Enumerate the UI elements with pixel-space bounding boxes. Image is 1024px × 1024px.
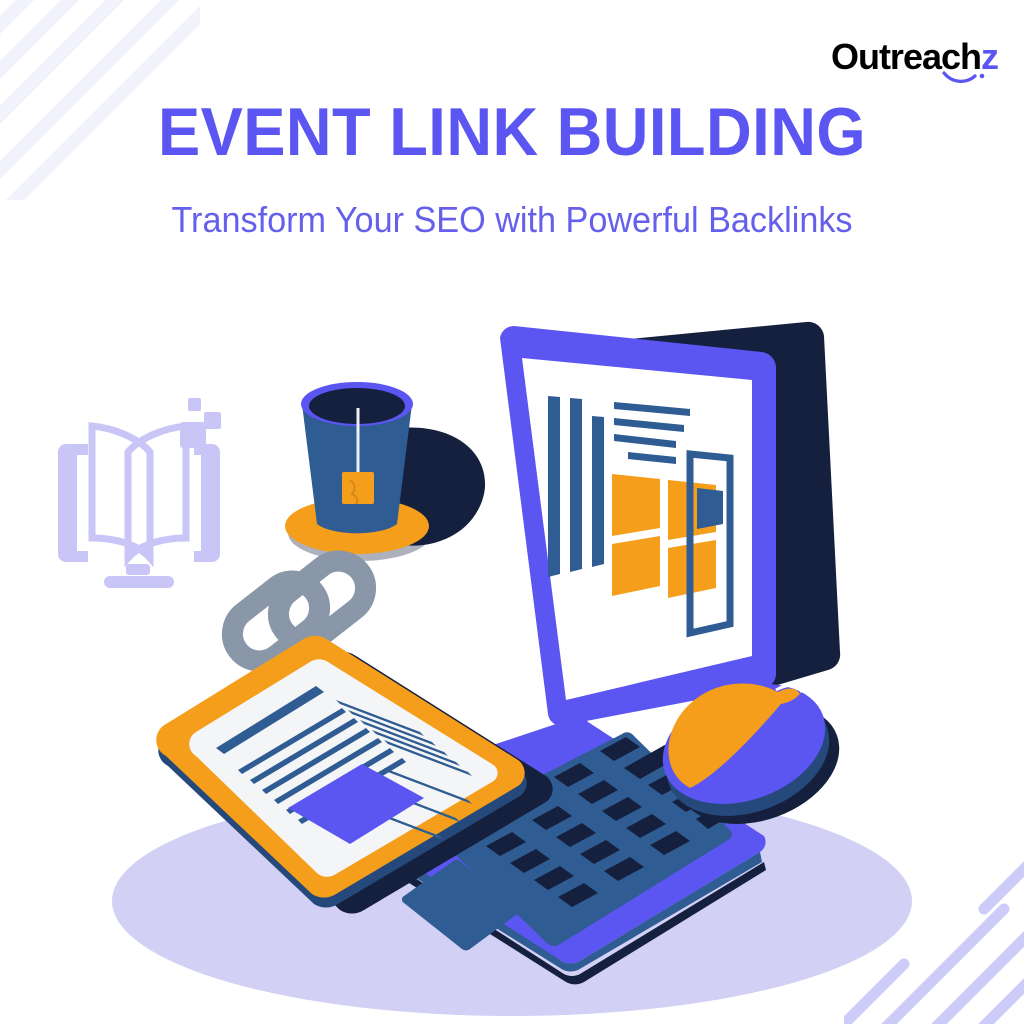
wireframe-bar [592,416,604,567]
page-title: EVENT LINK BUILDING [36,98,988,166]
hero-illustration [0,256,1024,1024]
poster-canvas: Outreachz EVENT LINK BUILDING Transform … [0,0,1024,1024]
brand-logo[interactable]: Outreachz [831,36,998,78]
wireframe-block [612,474,660,536]
wireframe-bar [548,396,560,577]
page-subtitle: Transform Your SEO with Powerful Backlin… [26,200,999,240]
logo-swoosh-icon [942,70,988,86]
book-icon [58,398,221,588]
wireframe-sidebar-fill [697,488,723,529]
coffee-cup [285,382,485,561]
wireframe-bar [570,398,582,572]
wireframe-block [612,536,660,596]
